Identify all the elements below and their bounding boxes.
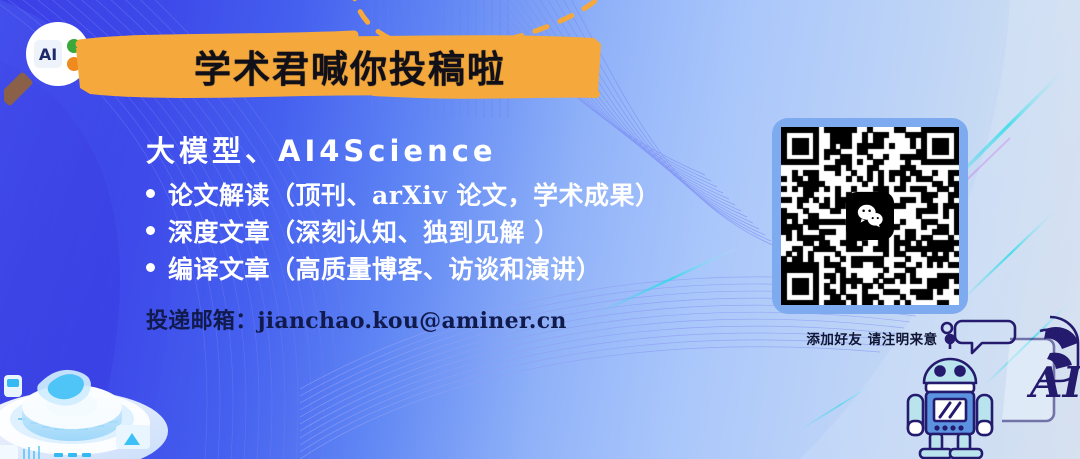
bullet-dot-icon xyxy=(146,189,155,198)
qr-code[interactable] xyxy=(781,127,959,305)
qr-card[interactable] xyxy=(772,118,968,314)
wechat-submission-banner: AI 学术君喊你投稿啦 大模型、AI4Science 论文解读（顶刊、arXiv… xyxy=(0,0,1080,459)
title-banner: 学术君喊你投稿啦 xyxy=(74,30,604,102)
bullet-dot-icon xyxy=(146,263,155,272)
list-item-label: 编译文章（高质量博客、访谈和演讲） xyxy=(168,256,602,284)
tech-device-illustration xyxy=(0,323,184,459)
wechat-icon xyxy=(846,192,894,240)
list-item-label: 论文解读（顶刊、arXiv 论文，学术成果） xyxy=(168,182,661,210)
copy-block: 大模型、AI4Science 论文解读（顶刊、arXiv 论文，学术成果） 深度… xyxy=(146,128,766,335)
bullet-dot-icon xyxy=(146,226,155,235)
list-item: 深度文章（深刻认知、独到见解 ） xyxy=(146,219,766,247)
list-item-label: 深度文章（深刻认知、独到见解 ） xyxy=(168,219,560,247)
page-title: 学术君喊你投稿啦 xyxy=(74,30,604,102)
ai-card-text: AI xyxy=(1026,358,1080,407)
robot-and-hand-illustration: AI xyxy=(890,309,1080,459)
headline: 大模型、AI4Science xyxy=(146,128,766,170)
list-item: 论文解读（顶刊、arXiv 论文，学术成果） xyxy=(146,182,766,210)
magnifier-handle-icon xyxy=(4,71,34,106)
submission-email: 投递邮箱：jianchao.kou@aminer.cn xyxy=(146,303,766,335)
logo-ai-text: AI xyxy=(39,45,57,64)
list-item: 编译文章（高质量博客、访谈和演讲） xyxy=(146,256,766,284)
email-address[interactable]: jianchao.kou@aminer.cn xyxy=(258,308,567,334)
